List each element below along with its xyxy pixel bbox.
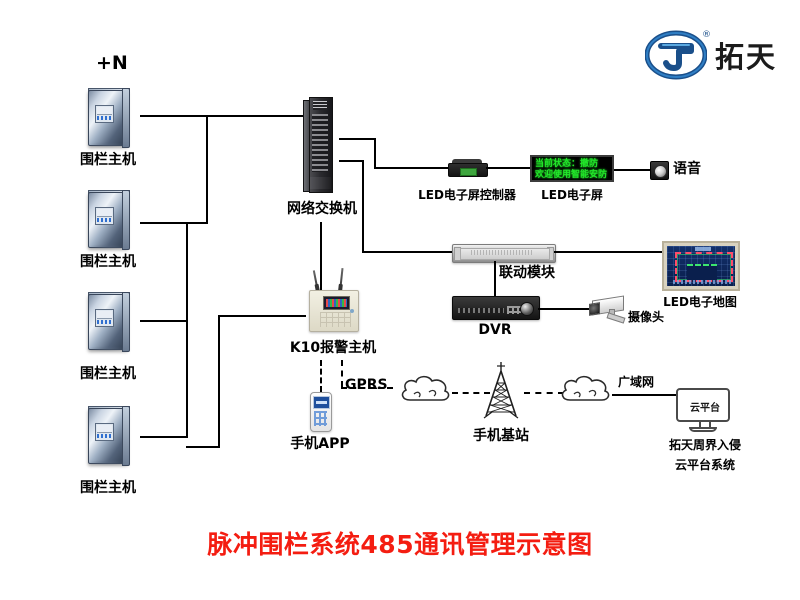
wire-bus-a-to-switch — [206, 115, 304, 117]
led-controller-icon[interactable] — [448, 159, 486, 177]
fence-host-icon[interactable] — [84, 190, 130, 250]
k10-screen — [323, 296, 350, 310]
led-map-icon[interactable] — [662, 241, 740, 291]
wire-k10-gprs-down — [341, 360, 343, 387]
fence-host-screen — [97, 107, 112, 115]
fence-host-shadow — [86, 460, 128, 466]
plus-n-label: +N — [96, 52, 128, 76]
fence-host-panel — [95, 207, 114, 225]
wire-trunk-to-k10 — [218, 315, 306, 317]
wire-k10-to-phone — [320, 360, 322, 392]
fence-host-leds — [97, 116, 112, 120]
wire-to-led-controller — [374, 167, 450, 169]
led-map-label: LED电子地图 — [650, 295, 750, 310]
brand-logo: ® 拓天 — [645, 30, 785, 80]
switch-leds — [313, 101, 327, 110]
bus-a-vertical — [206, 115, 208, 224]
k10-antenna-right — [339, 268, 343, 292]
cloud-platform-label-line-1: 拓天周界入侵 — [646, 438, 764, 453]
camera-arm — [607, 312, 626, 323]
wire-fence1-to-bus — [140, 115, 208, 117]
fence-host-panel — [95, 423, 114, 441]
fence-host-leds — [97, 218, 112, 222]
led-map-header — [695, 247, 711, 251]
camera-label: 摄像头 — [628, 310, 664, 325]
led-screen-line-1: 当前状态：撤防 — [535, 159, 609, 170]
mobile-app-label: 手机APP — [288, 436, 352, 454]
bus-b-vertical — [186, 222, 188, 438]
wire-switch-elbow-upper — [374, 138, 376, 169]
linkage-module-label: 联动模块 — [487, 265, 567, 283]
rack-vents — [471, 250, 533, 255]
k10-body — [309, 290, 359, 332]
switch-base — [310, 177, 331, 189]
led-controller-terminal — [460, 168, 477, 176]
fence-host-screen — [97, 209, 112, 217]
monitor-icon[interactable]: 云平台 — [676, 388, 730, 434]
cloud-icon — [398, 372, 454, 406]
fence-host-side — [122, 292, 130, 352]
wan-label: 广域网 — [618, 375, 654, 390]
k10-antenna-left — [313, 270, 319, 292]
wire-fence4-to-bus — [140, 436, 188, 438]
network-switch-label: 网络交换机 — [282, 201, 362, 219]
monitor-base — [689, 427, 717, 432]
fence-host-side — [122, 406, 130, 466]
phone-keypad[interactable] — [314, 411, 327, 426]
mobile-phone-icon[interactable] — [310, 392, 332, 432]
k10-keypad[interactable] — [320, 312, 351, 327]
gprs-label: GPRS — [345, 377, 388, 395]
led-screen-line-2: 欢迎使用智能安防 — [535, 170, 609, 181]
cloud-icon — [558, 372, 614, 406]
diagram-canvas: ® 拓天 +N 围栏主机 围栏主机 围栏主机 — [0, 0, 800, 600]
tuotian-logo-icon — [645, 30, 707, 80]
led-map-inner-zone — [687, 264, 717, 280]
trunk-vertical-to-k10 — [218, 315, 220, 448]
fence-host-side — [122, 190, 130, 250]
wire-screen-to-voice — [614, 169, 650, 171]
fence-host-side — [122, 88, 130, 148]
wire-controller-to-screen — [486, 167, 530, 169]
led-screen-label: LED电子屏 — [528, 188, 616, 203]
brand-name: 拓天 — [715, 34, 777, 76]
wire-switch-elbow-lower — [362, 160, 364, 253]
speaker-cone — [654, 165, 667, 178]
switch-ports — [312, 114, 328, 172]
network-switch-icon[interactable] — [303, 97, 339, 191]
wire-switch-out-lower — [339, 160, 364, 162]
led-controller-label: LED电子屏控制器 — [402, 188, 532, 203]
k10-status-led — [350, 309, 354, 313]
phone-screen — [313, 396, 330, 409]
k10-alarm-host-label: K10报警主机 — [282, 340, 384, 358]
dvr-jog-dial — [520, 302, 534, 316]
fence-host-3-label: 围栏主机 — [78, 366, 138, 384]
cloud-platform-label-line-2: 云平台系统 — [646, 458, 764, 473]
voice-label: 语音 — [673, 161, 701, 179]
fence-host-icon[interactable] — [84, 292, 130, 352]
rack-module-icon[interactable] — [452, 244, 556, 263]
fence-host-1-label: 围栏主机 — [78, 152, 138, 170]
led-map-caption-bar — [673, 280, 731, 284]
fence-host-2-label: 围栏主机 — [78, 254, 138, 272]
registered-mark: ® — [702, 30, 711, 40]
camera-lens — [589, 302, 600, 316]
speaker-icon[interactable] — [650, 161, 669, 180]
fence-host-shadow — [86, 142, 128, 148]
wire-trunk-bottom — [186, 446, 220, 448]
cctv-camera-icon[interactable] — [588, 296, 628, 324]
wire-bus-b-join — [186, 222, 208, 224]
wire-fence3-to-bus — [140, 320, 188, 322]
fence-host-panel — [95, 309, 114, 327]
fence-host-panel — [95, 105, 114, 123]
dvr-label: DVR — [470, 322, 520, 340]
fence-host-leds — [97, 434, 112, 438]
wire-wan-to-cloud-platform — [612, 394, 676, 396]
fence-host-shadow — [86, 244, 128, 250]
fence-host-leds — [97, 320, 112, 324]
fence-host-shadow — [86, 346, 128, 352]
fence-host-screen — [97, 311, 112, 319]
led-map-screen — [667, 246, 735, 286]
page-title: 脉冲围栏系统485通讯管理示意图 — [0, 525, 800, 561]
fence-host-icon[interactable] — [84, 88, 130, 148]
cell-tower-icon — [478, 362, 524, 420]
wire-to-linkage-module — [362, 251, 454, 253]
cloud-platform-screen-text: 云平台 — [678, 399, 732, 414]
fence-host-icon[interactable] — [84, 406, 130, 466]
alarm-panel-icon[interactable] — [303, 268, 363, 330]
base-station-label: 手机基站 — [456, 428, 546, 446]
fence-host-screen — [97, 425, 112, 433]
fence-host-4-label: 围栏主机 — [78, 480, 138, 498]
wire-linkage-to-dvr — [494, 261, 496, 296]
wire-switch-out-upper — [339, 138, 376, 140]
monitor-frame: 云平台 — [676, 388, 730, 422]
dvr-icon[interactable] — [452, 296, 540, 320]
wire-dvr-to-camera — [538, 308, 590, 310]
wire-linkage-to-map — [554, 251, 662, 253]
dvr-front-strip — [458, 308, 504, 313]
led-screen-icon[interactable]: 当前状态：撤防 欢迎使用智能安防 — [530, 155, 614, 182]
